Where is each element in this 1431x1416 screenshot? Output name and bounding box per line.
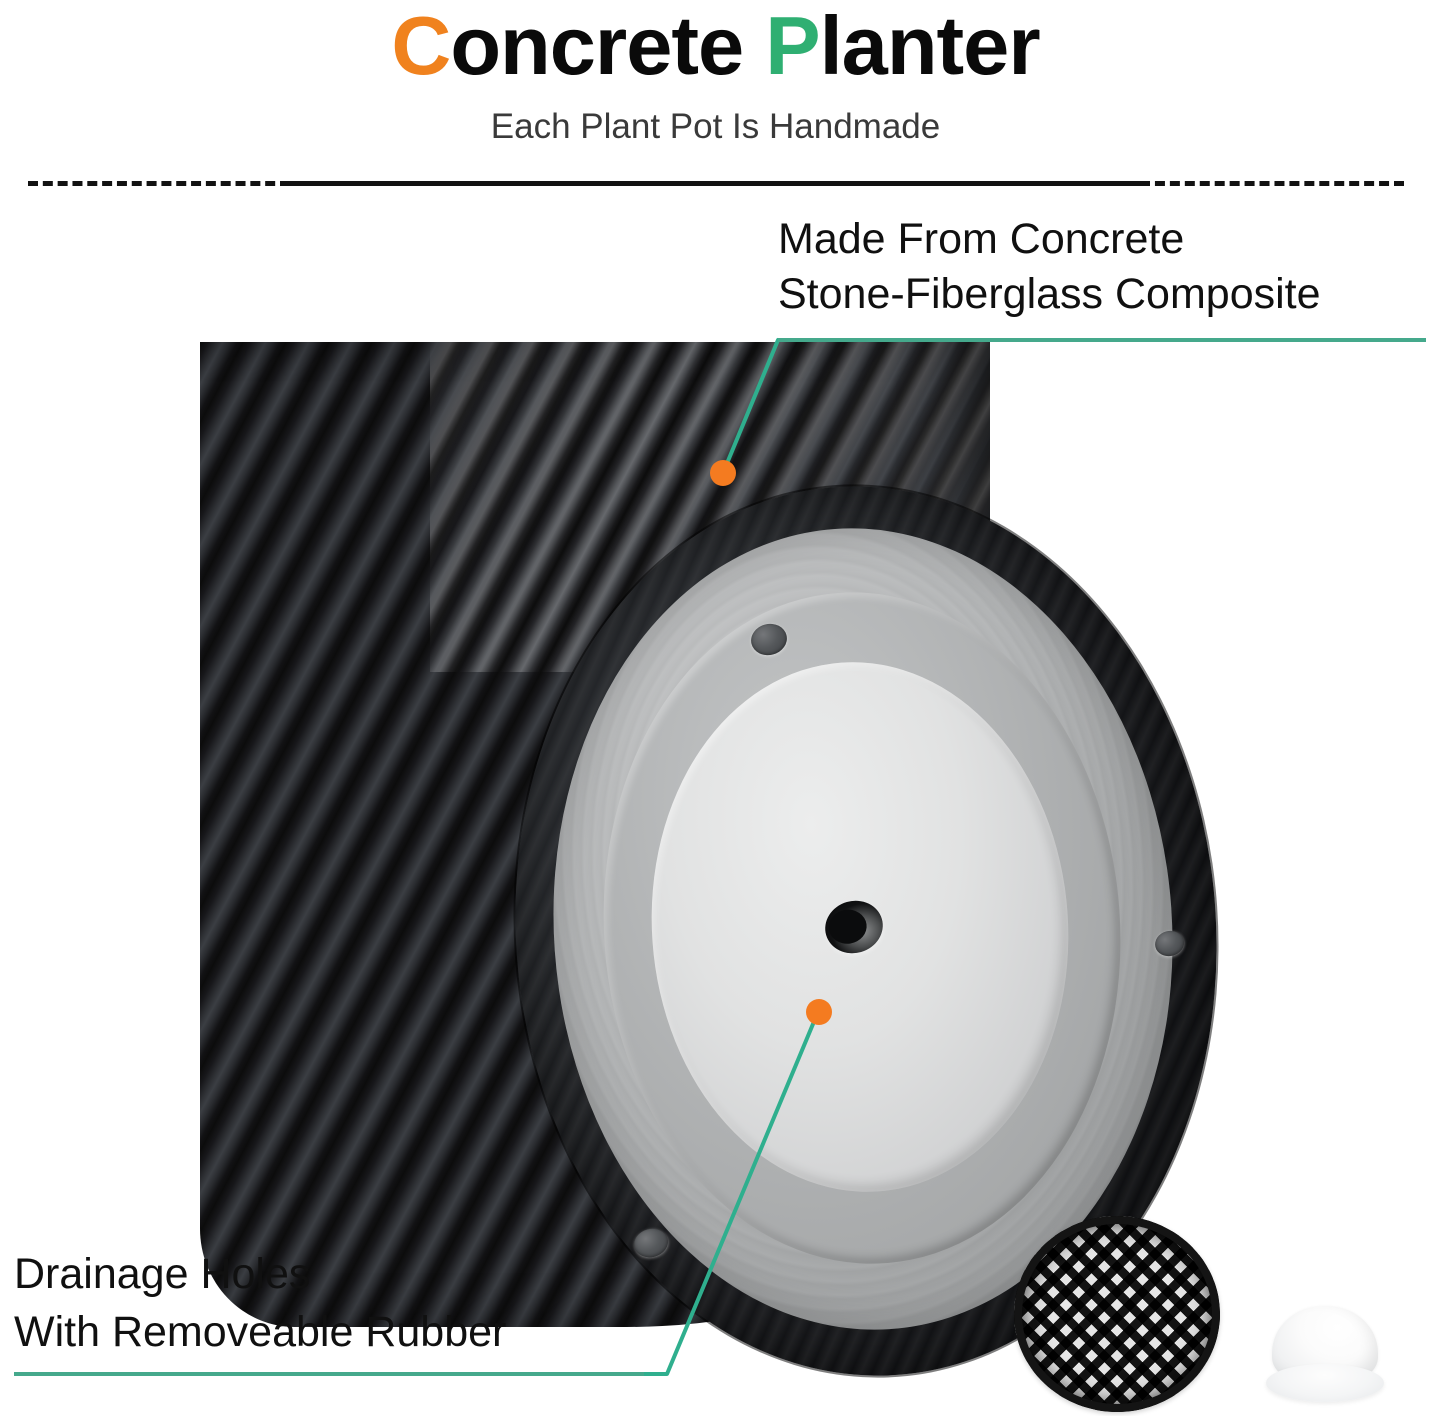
annotation-material-line2: Stone-Fiberglass Composite (778, 267, 1428, 322)
callout-dot-drainage (806, 999, 832, 1025)
annotation-drainage-line1: Drainage Holes (14, 1245, 674, 1303)
rubber-plug-flange (1266, 1364, 1384, 1402)
rubber-plug-icon (1266, 1306, 1384, 1402)
annotation-material: Made From Concrete Stone-Fiberglass Comp… (778, 212, 1428, 322)
planter-product-image (200, 342, 1205, 1342)
callout-dot-material (710, 460, 736, 486)
annotation-drainage-line2: With Removeable Rubber (14, 1303, 674, 1361)
infographic-page: Concrete Planter Each Plant Pot Is Handm… (0, 0, 1431, 1416)
mesh-screen-edge (1014, 1216, 1220, 1412)
annotation-material-line1: Made From Concrete (778, 212, 1428, 267)
mesh-screen-icon (1014, 1216, 1220, 1412)
annotation-material-rule (778, 338, 1426, 342)
annotation-drainage-rule (14, 1372, 644, 1376)
annotation-drainage: Drainage Holes With Removeable Rubber (14, 1245, 674, 1361)
